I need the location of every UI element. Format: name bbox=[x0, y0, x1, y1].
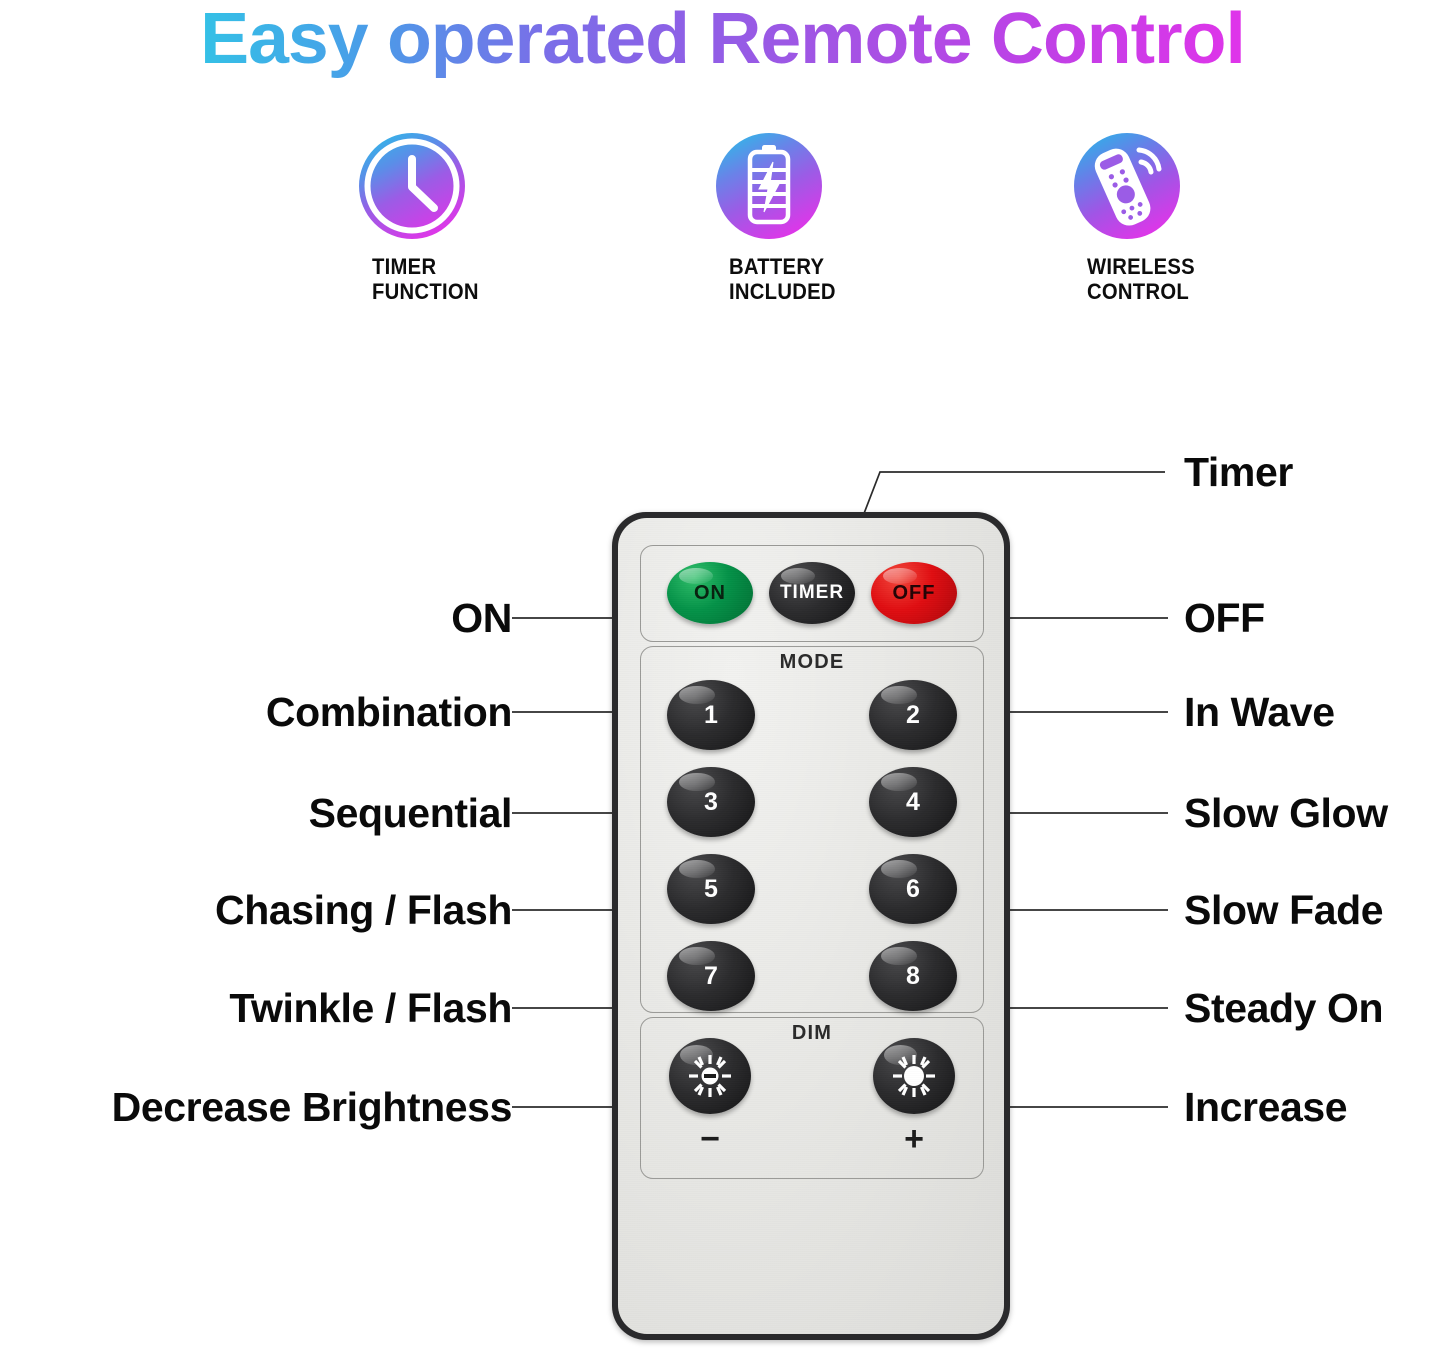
mode-4-label: 4 bbox=[906, 788, 920, 817]
callout-steady-on: Steady On bbox=[1184, 986, 1383, 1030]
callout-twinkle-flash: Twinkle / Flash bbox=[12, 986, 512, 1030]
callout-slow-fade: Slow Fade bbox=[1184, 888, 1383, 932]
mode-8-label: 8 bbox=[906, 962, 920, 991]
remote-control-device: ON TIMER OFF MODE 1 2 3 4 5 6 bbox=[612, 512, 1010, 1340]
dim-minus-sign: − bbox=[669, 1122, 751, 1156]
brightness-low-sun-icon bbox=[687, 1053, 733, 1099]
callout-sequential: Sequential bbox=[12, 791, 512, 835]
off-button[interactable]: OFF bbox=[871, 562, 957, 624]
mode-1-button[interactable]: 1 bbox=[667, 680, 755, 750]
mode-3-button[interactable]: 3 bbox=[667, 767, 755, 837]
mode-4-button[interactable]: 4 bbox=[869, 767, 957, 837]
mode-panel-title: MODE bbox=[641, 651, 983, 674]
mode-7-label: 7 bbox=[704, 962, 718, 991]
remote-faceplate: ON TIMER OFF MODE 1 2 3 4 5 6 bbox=[618, 518, 1004, 1334]
callout-in-wave: In Wave bbox=[1184, 690, 1335, 734]
callout-on: ON bbox=[12, 596, 512, 640]
dim-button-panel: DIM bbox=[640, 1017, 984, 1179]
brightness-high-sun-icon bbox=[891, 1053, 937, 1099]
mode-2-label: 2 bbox=[906, 701, 920, 730]
callout-combination: Combination bbox=[12, 690, 512, 734]
mode-6-label: 6 bbox=[906, 875, 920, 904]
callout-slow-glow: Slow Glow bbox=[1184, 791, 1388, 835]
mode-3-label: 3 bbox=[704, 788, 718, 817]
callout-increase: Increase bbox=[1184, 1085, 1347, 1129]
mode-5-button[interactable]: 5 bbox=[667, 854, 755, 924]
dim-down-button[interactable] bbox=[669, 1038, 751, 1114]
dim-up-button[interactable] bbox=[873, 1038, 955, 1114]
dim-plus-sign: + bbox=[873, 1122, 955, 1156]
on-button[interactable]: ON bbox=[667, 562, 753, 624]
mode-8-button[interactable]: 8 bbox=[869, 941, 957, 1011]
timer-button-label: TIMER bbox=[780, 582, 844, 604]
callout-timer: Timer bbox=[1184, 450, 1293, 494]
mode-7-button[interactable]: 7 bbox=[667, 941, 755, 1011]
mode-button-panel: MODE 1 2 3 4 5 6 7 8 bbox=[640, 646, 984, 1013]
mode-5-label: 5 bbox=[704, 875, 718, 904]
off-button-label: OFF bbox=[893, 582, 936, 605]
on-button-label: ON bbox=[694, 582, 726, 605]
power-button-panel: ON TIMER OFF bbox=[640, 545, 984, 642]
callout-off: OFF bbox=[1184, 596, 1265, 640]
callout-decrease-brightness: Decrease Brightness bbox=[6, 1085, 512, 1129]
mode-1-label: 1 bbox=[704, 701, 718, 730]
mode-2-button[interactable]: 2 bbox=[869, 680, 957, 750]
timer-button[interactable]: TIMER bbox=[769, 562, 855, 624]
callout-chasing-flash: Chasing / Flash bbox=[12, 888, 512, 932]
mode-6-button[interactable]: 6 bbox=[869, 854, 957, 924]
